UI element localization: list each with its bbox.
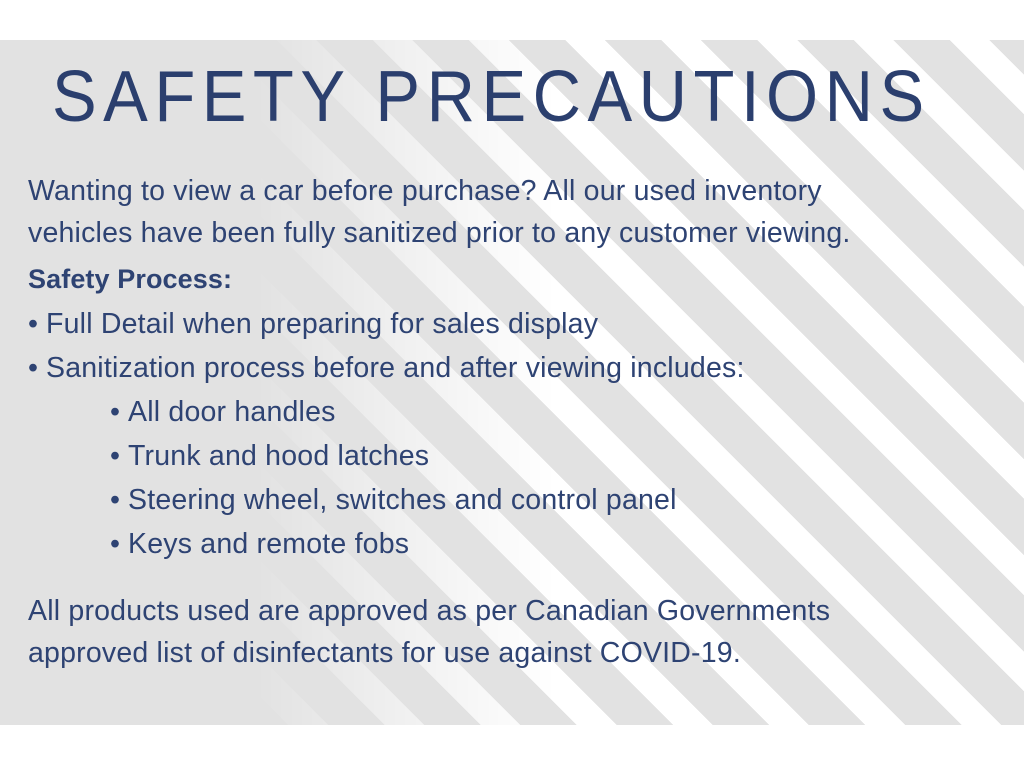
list-item: •Full Detail when preparing for sales di… [28,302,1008,346]
list-item-label: Sanitization process before and after vi… [46,352,745,384]
bullet-dot-icon: • [110,522,128,566]
page-title: SAFETY PRECAUTIONS [52,58,926,136]
closing-line-2: approved list of disinfectants for use a… [28,632,1008,674]
poster-content: SAFETY PRECAUTIONS Wanting to view a car… [0,40,1024,725]
grey-background-panel: SAFETY PRECAUTIONS Wanting to view a car… [0,40,1024,725]
list-item-label: Full Detail when preparing for sales dis… [46,308,598,340]
list-item-label: Keys and remote fobs [128,528,409,560]
list-item: •Sanitization process before and after v… [28,346,1008,390]
safety-process-heading: Safety Process: [28,258,1008,300]
list-item-label: Steering wheel, switches and control pan… [128,484,677,516]
list-item: •Steering wheel, switches and control pa… [110,478,1010,522]
list-item-label: All door handles [128,396,336,428]
sub-bullet-list: •All door handles •Trunk and hood latche… [110,390,1010,566]
intro-line-1: Wanting to view a car before purchase? A… [28,170,1008,212]
safety-precautions-poster: SAFETY PRECAUTIONS Wanting to view a car… [0,0,1024,768]
main-bullet-list: •Full Detail when preparing for sales di… [28,302,1008,390]
bullet-dot-icon: • [110,390,128,434]
intro-line-2: vehicles have been fully sanitized prior… [28,212,1008,254]
bullet-dot-icon: • [110,434,128,478]
list-item: •Trunk and hood latches [110,434,1010,478]
bullet-dot-icon: • [28,302,46,346]
bullet-dot-icon: • [110,478,128,522]
closing-line-1: All products used are approved as per Ca… [28,590,1008,632]
bullet-dot-icon: • [28,346,46,390]
intro-paragraph: Wanting to view a car before purchase? A… [28,170,1008,254]
list-item-label: Trunk and hood latches [128,440,429,472]
closing-paragraph: All products used are approved as per Ca… [28,590,1008,674]
list-item: •All door handles [110,390,1010,434]
list-item: •Keys and remote fobs [110,522,1010,566]
